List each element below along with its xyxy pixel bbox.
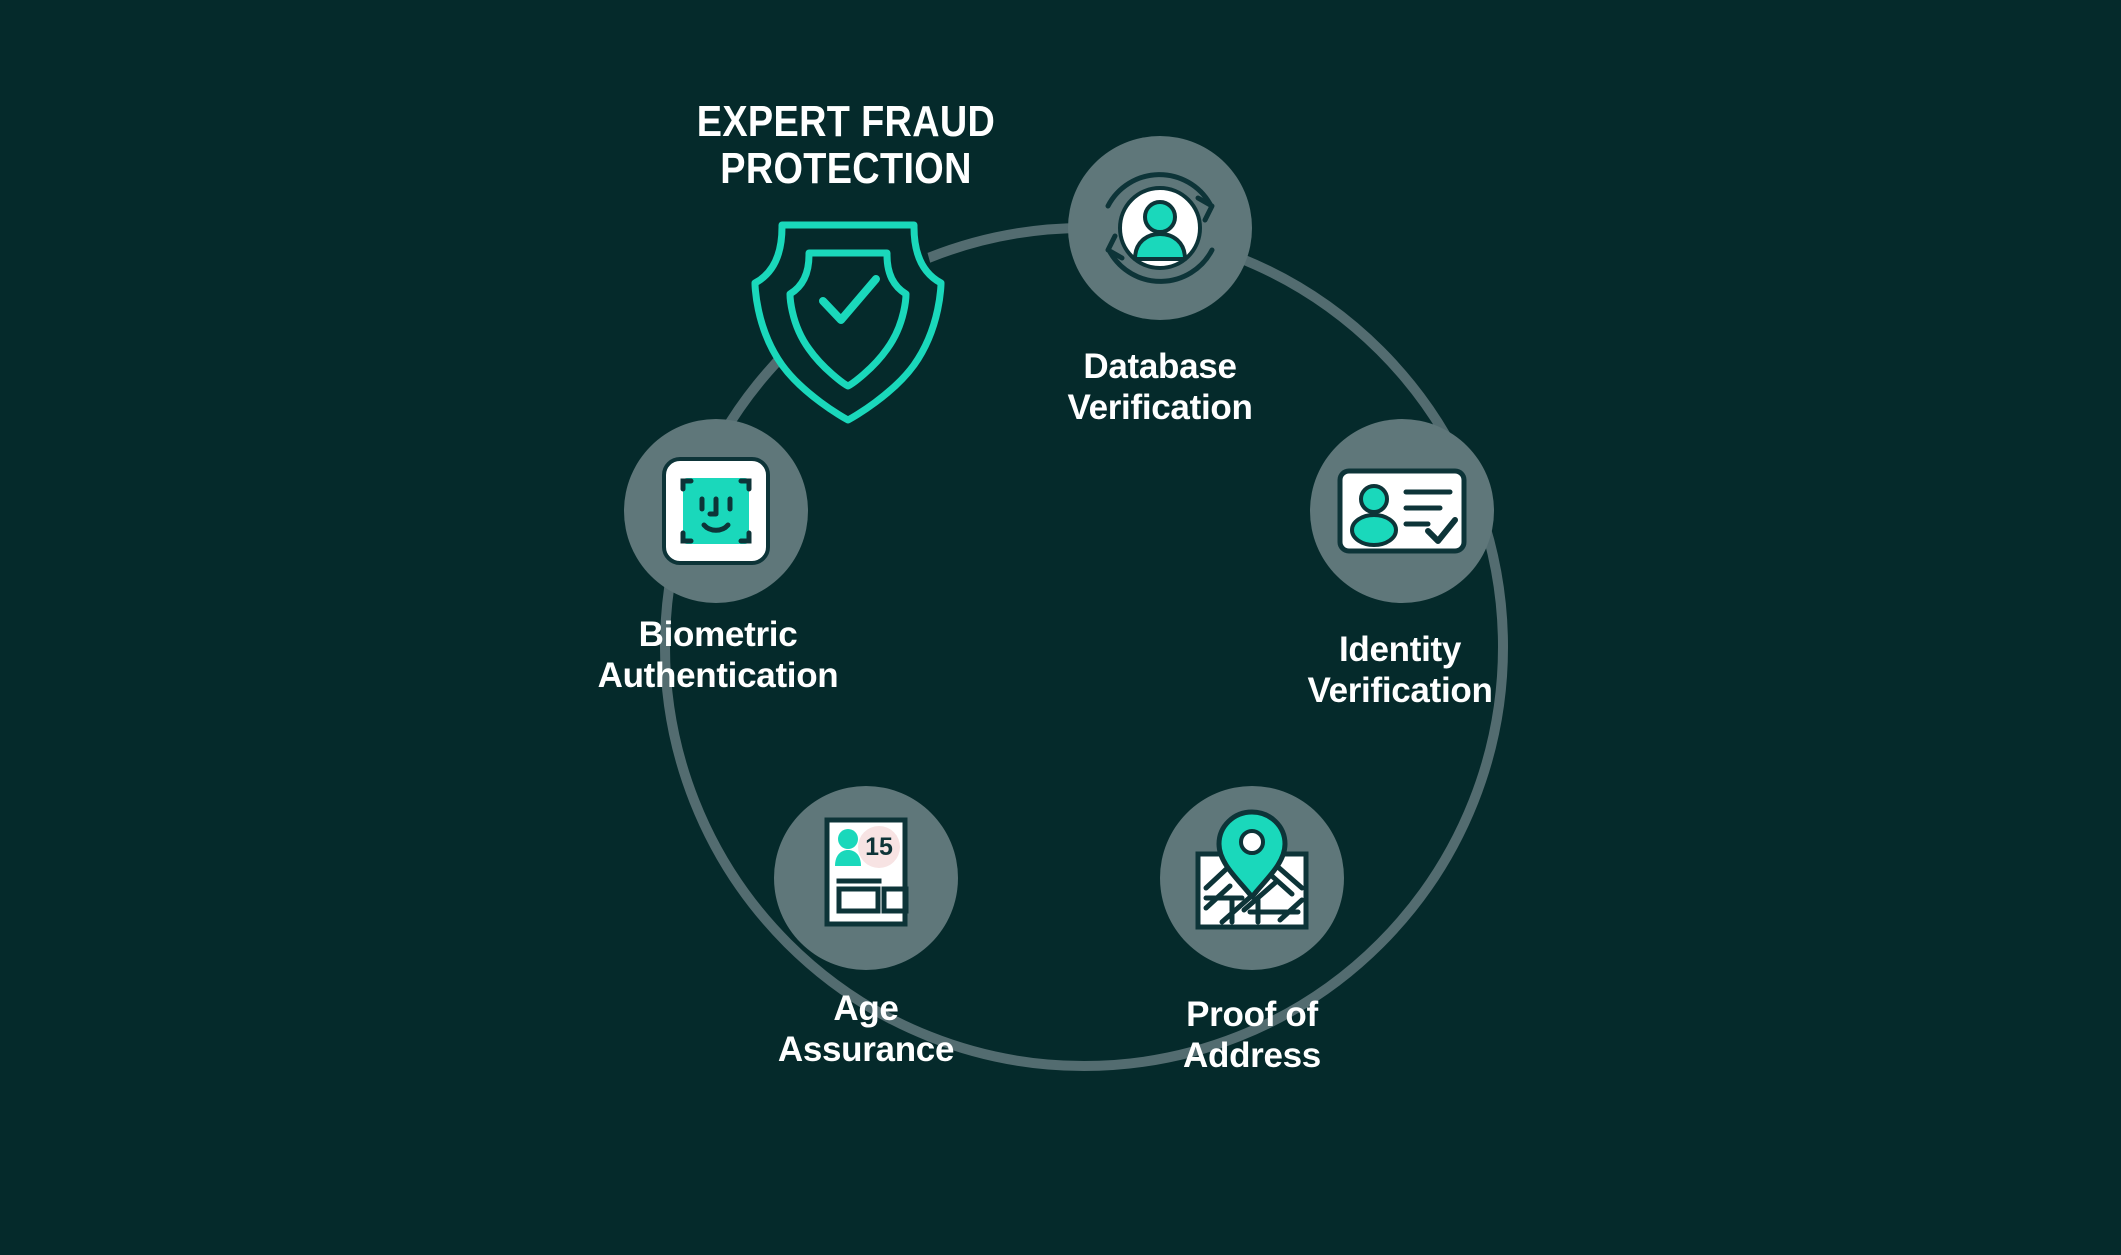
node-label-line-1: Age bbox=[646, 988, 1086, 1029]
node-label-line-1: Database bbox=[940, 346, 1380, 387]
map-pin-icon bbox=[1198, 812, 1306, 927]
node-label-line-2: Address bbox=[1032, 1035, 1472, 1076]
node-label-line-2: Assurance bbox=[646, 1029, 1086, 1070]
node-label-line-1: Biometric bbox=[498, 614, 938, 655]
node-label-biometric-authentication: Biometric Authentication bbox=[498, 614, 938, 697]
age-badge-number: 15 bbox=[865, 833, 893, 861]
node-label-identity-verification: Identity Verification bbox=[1180, 629, 1620, 712]
id-card-check-icon bbox=[1340, 471, 1464, 551]
page-title: EXPERT FRAUD PROTECTION bbox=[676, 98, 1017, 192]
node-label-line-2: Verification bbox=[1180, 670, 1620, 711]
node-label-line-1: Identity bbox=[1180, 629, 1620, 670]
node-label-line-2: Verification bbox=[940, 387, 1380, 428]
age-document-icon: 15 bbox=[827, 820, 906, 924]
node-label-database-verification: Database Verification bbox=[940, 346, 1380, 429]
node-label-line-1: Proof of bbox=[1032, 994, 1472, 1035]
face-id-icon bbox=[664, 459, 768, 563]
fraud-protection-cycle-diagram: 15 bbox=[0, 0, 2121, 1255]
page-title-line-2: PROTECTION bbox=[676, 145, 1017, 192]
node-label-proof-of-address: Proof of Address bbox=[1032, 994, 1472, 1077]
node-label-age-assurance: Age Assurance bbox=[646, 988, 1086, 1071]
shield-check-icon bbox=[755, 225, 941, 420]
user-refresh-cycle-icon bbox=[1108, 175, 1212, 282]
page-title-line-1: EXPERT FRAUD bbox=[676, 98, 1017, 145]
node-label-line-2: Authentication bbox=[498, 655, 938, 696]
